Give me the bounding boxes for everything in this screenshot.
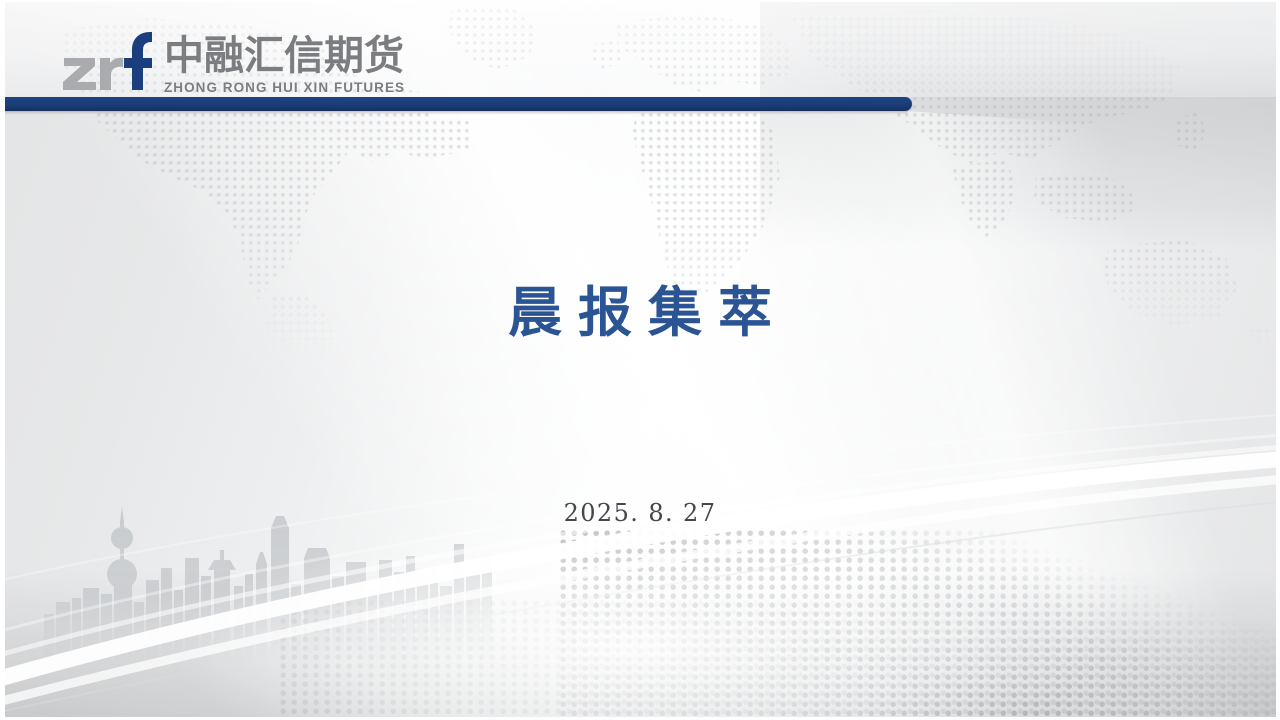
halftone-dot-field-lower bbox=[280, 600, 1280, 720]
logo-text-block: 中融汇信期货 ZHONG RONG HUI XIN FUTURES bbox=[164, 36, 405, 97]
header-accent-rule bbox=[0, 97, 912, 111]
logo-name-en: ZHONG RONG HUI XIN FUTURES bbox=[164, 81, 405, 95]
company-logo: 中融汇信期货 ZHONG RONG HUI XIN FUTURES bbox=[62, 26, 405, 96]
page-title: 晨报集萃 bbox=[0, 282, 1280, 342]
title-block: 晨报集萃 bbox=[0, 282, 1280, 342]
header-rule-shadow bbox=[0, 111, 908, 115]
slide-date: 2025. 8. 27 bbox=[0, 499, 1280, 527]
logo-name-cn: 中融汇信期货 bbox=[164, 36, 405, 76]
title-slide: 中融汇信期货 ZHONG RONG HUI XIN FUTURES bbox=[0, 0, 1280, 720]
zrf-logomark-icon bbox=[62, 30, 154, 96]
